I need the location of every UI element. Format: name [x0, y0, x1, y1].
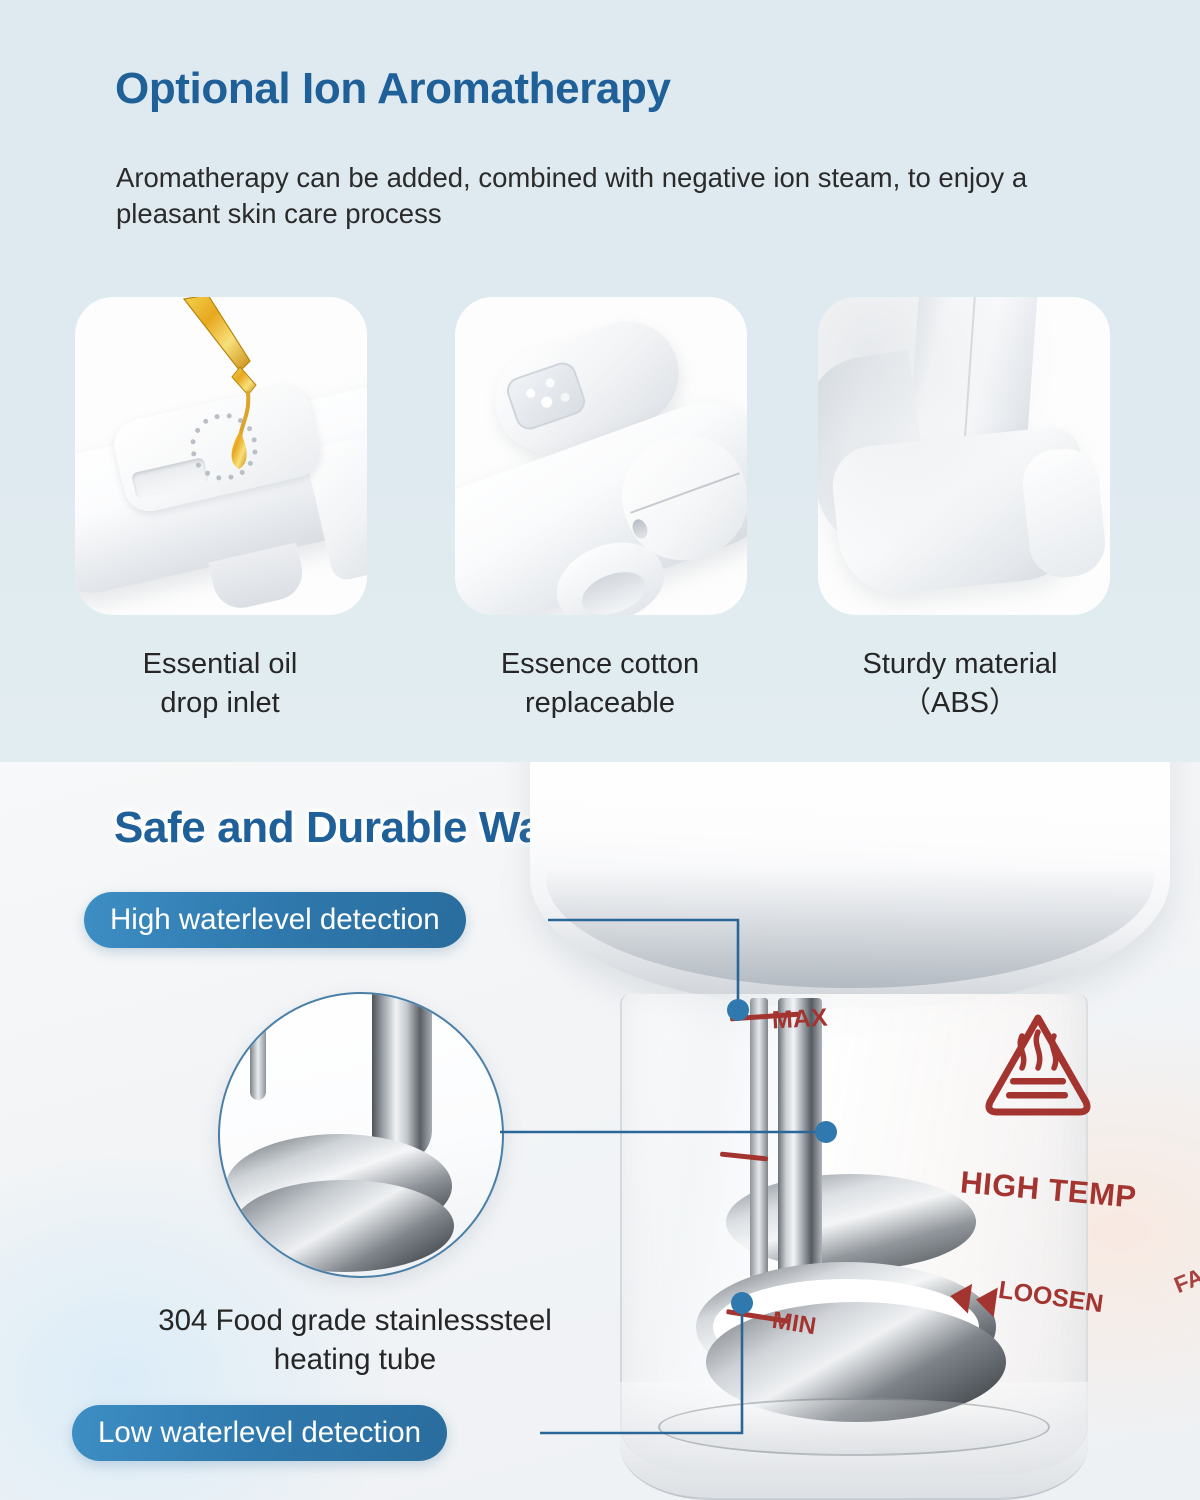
- feature-card-abs-material[interactable]: [818, 297, 1110, 615]
- water-cup-illustration: MAX MIN HIGH TEMP LOOSEN FASTEN: [420, 762, 1200, 1500]
- pill-low-waterlevel[interactable]: Low waterlevel detection: [72, 1405, 447, 1461]
- caption-line-1: Essence cotton: [501, 648, 699, 680]
- pill-high-label: High waterlevel detection: [110, 903, 440, 937]
- max-label: MAX: [771, 1004, 828, 1036]
- heating-tube-stem: [778, 998, 822, 1298]
- tube-caption-line-1: 304 Food grade stainlesssteel: [158, 1304, 552, 1337]
- caption-line-2: （ABS）: [902, 687, 1018, 719]
- feature-caption-abs-material: Sturdy material （ABS）: [795, 645, 1125, 723]
- feature-card-essence-cotton[interactable]: [455, 297, 747, 615]
- caption-line-2: drop inlet: [160, 687, 279, 719]
- caption-line-1: Sturdy material: [862, 648, 1057, 680]
- caption-line-2: replaceable: [525, 687, 675, 719]
- feature-card-row: [0, 297, 1200, 615]
- heating-tube-caption: 304 Food grade stainlesssteel heating tu…: [70, 1302, 640, 1380]
- pill-high-waterlevel[interactable]: High waterlevel detection: [84, 892, 466, 948]
- aromatherapy-subtitle: Aromatherapy can be added, combined with…: [116, 160, 1076, 233]
- cup-lid: [530, 762, 1170, 1008]
- feature-caption-essence-cotton: Essence cotton replaceable: [435, 645, 765, 723]
- heating-tube-stem-secondary: [750, 998, 768, 1278]
- cup-inner-ring: [658, 1398, 1050, 1456]
- high-temperature-icon: [980, 1010, 1096, 1122]
- abs-arm-joint-photo: [818, 297, 1110, 615]
- heating-tube-magnifier: [218, 992, 504, 1278]
- oil-dropper-icon: [178, 297, 298, 505]
- feature-card-essential-oil[interactable]: [75, 297, 367, 615]
- fasten-label: FASTEN: [1170, 1240, 1200, 1299]
- aromatherapy-section: Optional Ion Aromatherapy Aromatherapy c…: [0, 0, 1200, 762]
- caption-line-1: Essential oil: [143, 648, 298, 680]
- pill-low-label: Low waterlevel detection: [98, 1416, 421, 1450]
- feature-caption-essential-oil: Essential oil drop inlet: [55, 645, 385, 723]
- essential-oil-dropper-photo: [75, 297, 367, 615]
- tube-caption-line-2: heating tube: [274, 1343, 436, 1376]
- aromatherapy-title: Optional Ion Aromatherapy: [115, 64, 671, 114]
- water-cup-section: Safe and Durable Water Cup MAX MIN HIGH …: [0, 762, 1200, 1500]
- essence-cotton-cap-photo: [455, 297, 747, 615]
